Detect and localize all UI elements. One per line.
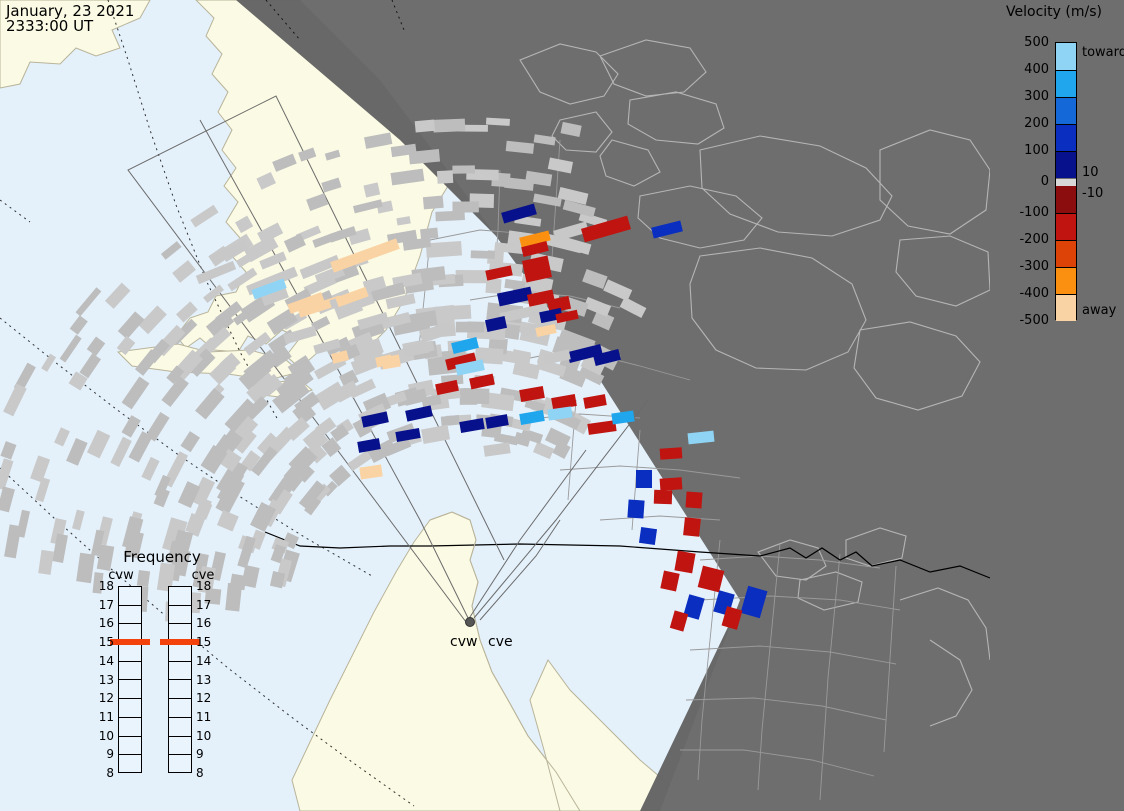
frequency-gauge-cve-bar[interactable]: [168, 586, 192, 773]
ground-scatter-cell[interactable]: [456, 322, 484, 333]
frequency-gauge-segment: [119, 587, 141, 606]
frequency-scale-label-17: 17: [92, 599, 114, 611]
radar-cell[interactable]: [636, 470, 652, 488]
colorbar-away-label: away: [1082, 304, 1116, 317]
frequency-scale-label-16: 16: [196, 617, 211, 629]
frequency-scale-label-14: 14: [196, 655, 211, 667]
colorbar-band-away-0: [1056, 186, 1076, 213]
frequency-scale-label-10: 10: [92, 730, 114, 742]
radar-cell[interactable]: [639, 527, 657, 545]
radar-cell[interactable]: [683, 517, 701, 537]
ground-scatter-cell[interactable]: [426, 241, 462, 258]
colorbar-band-toward-4: [1056, 151, 1076, 178]
frequency-gauge-cvw-bar[interactable]: [118, 586, 142, 773]
frequency-scale-label-16: 16: [92, 617, 114, 629]
colorbar-tick--500: -500: [1019, 314, 1049, 327]
radar-cell[interactable]: [660, 477, 683, 491]
frequency-gauge-segment: [119, 699, 141, 718]
ground-scatter-cell[interactable]: [435, 210, 465, 221]
colorbar-tick--100: -100: [1019, 206, 1049, 219]
colorbar-tick-500: 500: [1024, 36, 1049, 49]
colorbar-toward-label: toward: [1082, 46, 1124, 59]
frequency-scale-label-10: 10: [196, 730, 211, 742]
frequency-scale-label-18: 18: [196, 580, 211, 592]
frequency-gauge-segment: [169, 606, 191, 625]
colorbar-separator: [1056, 240, 1076, 241]
frequency-gauge-segment: [169, 681, 191, 700]
frequency-gauge-cvw[interactable]: cvw 18171615141312111098: [86, 568, 156, 780]
colorbar-tick--300: -300: [1019, 260, 1049, 273]
radar-cell[interactable]: [685, 491, 702, 508]
frequency-title: Frequency: [86, 548, 238, 566]
colorbar-tick-400: 400: [1024, 63, 1049, 76]
frequency-gauge-segment: [169, 643, 191, 662]
colorbar-separator: [1056, 213, 1076, 214]
frequency-gauge-segment: [119, 737, 141, 756]
ground-scatter-cell[interactable]: [415, 119, 435, 132]
colorbar-separator: [1056, 70, 1076, 71]
colorbar-tick--400: -400: [1019, 287, 1049, 300]
frequency-gauge-segment: [119, 755, 141, 774]
frequency-scale-label-18: 18: [92, 580, 114, 592]
frequency-marker-cve: [160, 639, 200, 645]
colorbar-band-toward-3: [1056, 124, 1076, 151]
colorbar-tick-0: 0: [1041, 175, 1049, 188]
colorbar-tick-100: 100: [1024, 144, 1049, 157]
frequency-scale-label-14: 14: [92, 655, 114, 667]
radar-site-marker[interactable]: [466, 618, 475, 627]
ground-scatter-cell[interactable]: [486, 118, 510, 126]
frequency-gauge-segment: [169, 755, 191, 774]
frequency-scale-label-17: 17: [196, 599, 211, 611]
ground-scatter-cell[interactable]: [460, 388, 477, 405]
ground-scatter-cell[interactable]: [441, 415, 460, 426]
frequency-scale-label-12: 12: [196, 692, 211, 704]
colorbar-separator: [1056, 151, 1076, 152]
colorbar-band-away-1: [1056, 213, 1076, 240]
frequency-gauge-segment: [119, 718, 141, 737]
frequency-scale-label-8: 8: [92, 767, 114, 779]
colorbar-zero-gap: [1056, 179, 1076, 186]
radar-cell[interactable]: [674, 551, 695, 574]
frequency-gauge-segment: [169, 662, 191, 681]
radar-cell[interactable]: [660, 447, 683, 460]
ground-scatter-cell[interactable]: [423, 195, 444, 209]
ground-scatter-cell[interactable]: [452, 165, 475, 173]
frequency-marker-cvw: [110, 639, 150, 645]
frequency-gauge-segment: [119, 662, 141, 681]
frequency-gauge-segment: [169, 718, 191, 737]
frequency-scale-label-8: 8: [196, 767, 204, 779]
frequency-scale-label-15: 15: [196, 636, 211, 648]
colorbar-gradient[interactable]: [1055, 42, 1077, 320]
colorbar-separator: [1056, 97, 1076, 98]
ground-scatter-cell[interactable]: [471, 250, 495, 259]
frequency-scale-label-11: 11: [196, 711, 211, 723]
frequency-scale-label-9: 9: [196, 748, 204, 760]
frequency-gauge-segment: [169, 587, 191, 606]
colorbar-band-away-3: [1056, 267, 1076, 294]
map-time-label: 2333:00 UT: [6, 19, 93, 34]
colorbar-zero-upper-label: 10: [1082, 166, 1099, 179]
colorbar-band-away-4: [1056, 294, 1076, 321]
frequency-gauge-segment: [119, 606, 141, 625]
frequency-gauge-segment: [169, 737, 191, 756]
radar-site-label-cvw: cvw: [450, 634, 477, 650]
colorbar-zero-lower-label: -10: [1082, 187, 1103, 200]
superdarn-velocity-map: January, 23 2021 2333:00 UT cvw cve Freq…: [0, 0, 1124, 811]
colorbar-separator: [1056, 294, 1076, 295]
radar-cell[interactable]: [627, 499, 644, 518]
colorbar-tick-200: 200: [1024, 117, 1049, 130]
frequency-gauge-segment: [169, 699, 191, 718]
colorbar-separator: [1056, 124, 1076, 125]
ground-scatter-cell[interactable]: [433, 119, 465, 133]
colorbar-tick-300: 300: [1024, 90, 1049, 103]
colorbar-band-away-2: [1056, 240, 1076, 267]
frequency-scale-label-13: 13: [196, 674, 211, 686]
frequency-scale-label-11: 11: [92, 711, 114, 723]
colorbar-band-toward-2: [1056, 97, 1076, 124]
frequency-scale-label-9: 9: [92, 748, 114, 760]
colorbar-separator: [1056, 267, 1076, 268]
frequency-scale-label-13: 13: [92, 674, 114, 686]
colorbar-panel: Velocity (m/s) 5004003002001000-100-200-…: [990, 0, 1124, 811]
ground-scatter-cell[interactable]: [437, 170, 453, 183]
colorbar-band-toward-1: [1056, 70, 1076, 97]
frequency-scale-label-12: 12: [92, 692, 114, 704]
radar-site-label-cve: cve: [488, 634, 513, 650]
frequency-panel: Frequency cvw 18171615141312111098 cve 1…: [86, 548, 238, 784]
frequency-gauge-cve[interactable]: cve 18171615141312111098: [168, 568, 238, 780]
colorbar-tick--200: -200: [1019, 233, 1049, 246]
radar-cell[interactable]: [654, 490, 672, 505]
frequency-gauge-segment: [119, 643, 141, 662]
frequency-gauge-segment: [119, 681, 141, 700]
map-canvas[interactable]: January, 23 2021 2333:00 UT cvw cve Freq…: [0, 0, 990, 811]
frequency-scale-label-15: 15: [92, 636, 114, 648]
colorbar-band-toward-0: [1056, 43, 1076, 70]
colorbar-title: Velocity (m/s): [984, 4, 1124, 20]
